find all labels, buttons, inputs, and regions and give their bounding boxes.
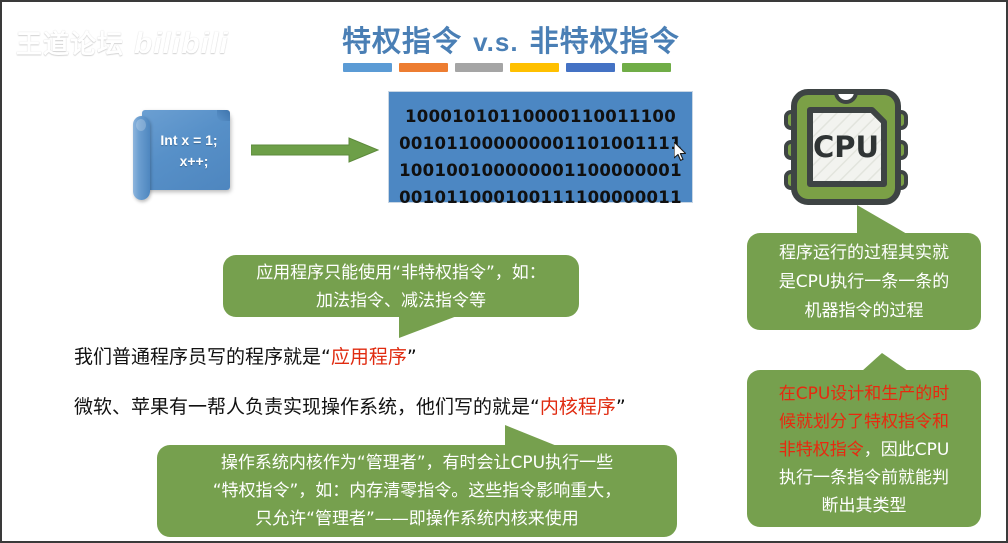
title-left-text: 特权指令 [342,24,462,58]
cpu-label: CPU [813,130,879,164]
callout-cpu-design: 在CPU设计和生产的时 候就划分了特权指令和 非特权指令，因此CPU 执行一条指… [747,370,981,527]
callout-design-line-4: 执行一条指令前就能判 [747,464,981,492]
body-kernel-highlight: 内核程序 [540,396,616,418]
body-text-kernel-program: 微软、苹果有一帮人负责实现操作系统，他们写的就是“内核程序” [74,392,626,419]
callout-design-line-1: 在CPU设计和生产的时 [747,380,981,408]
callout-tail [399,316,457,338]
binary-line-2: 001011000000001101001111 [389,130,692,157]
title-right-text: 非特权指令 [530,24,680,58]
color-bar-2 [399,63,448,72]
callout-app-line-2: 加法指令、减法指令等 [223,287,579,315]
callout-app-instruction: 应用程序只能使用“非特权指令”，如： 加法指令、减法指令等 [223,255,579,317]
watermark: 王道论坛bilibili [16,24,229,61]
callout-app-line-1: 应用程序只能使用“非特权指令”，如： [223,259,579,287]
callout-kernel-instruction: 操作系统内核作为“管理者”，有时会让CPU执行一些 “特权指令”，如：内存清零指… [157,445,677,537]
color-bar-1 [343,63,392,72]
body-kernel-prefix: 微软、苹果有一帮人负责实现操作系统，他们写的就是“ [74,396,540,418]
body-app-prefix: 我们普通程序员写的程序就是“ [74,346,331,368]
callout-kernel-line-1: 操作系统内核作为“管理者”，有时会让CPU执行一些 [157,449,677,477]
callout-run-line-1: 程序运行的过程其实就 [747,239,981,268]
title-vs-text: v.s. [473,27,518,57]
body-kernel-suffix: ” [616,396,626,418]
cpu-chip-icon: CPU [780,84,912,212]
binary-line-4: 001011000100111100000011 [389,184,692,211]
callout-kernel-line-2: “特权指令”，如：内存清零指令。这些指令影响重大， [157,477,677,505]
callout-tail [862,353,908,371]
compile-arrow [251,137,379,163]
callout-run-line-3: 机器指令的过程 [747,297,981,326]
watermark-site-text: 王道论坛 [16,29,124,59]
callout-program-run: 程序运行的过程其实就 是CPU执行一条一条的 机器指令的过程 [747,233,981,330]
callout-design-line-3-red: 非特权指令 [779,440,864,460]
source-code-scroll: Int x = 1; x++; [128,106,238,194]
title-color-bars [343,63,671,72]
color-bar-3 [455,63,504,72]
color-bar-5 [566,63,615,72]
mouse-cursor [674,142,688,162]
body-text-app-program: 我们普通程序员写的程序就是“应用程序” [74,342,417,369]
code-line-2: x++; [148,151,230,172]
binary-line-3: 100100100000001100000001 [389,157,692,184]
callout-design-line-5: 断出其类型 [747,492,981,520]
callout-kernel-line-3: 只允许“管理者”——即操作系统内核来使用 [157,505,677,533]
color-bar-6 [622,63,671,72]
binary-line-1: 10001010110000110011100 [389,103,692,130]
machine-code-block: 10001010110000110011100 0010110000000011… [388,91,693,203]
code-line-1: Int x = 1; [148,130,230,151]
page-title: 特权指令 v.s. 非特权指令 [342,18,672,60]
callout-design-line-3: 非特权指令，因此CPU [747,436,981,464]
callout-design-line-2: 候就划分了特权指令和 [747,408,981,436]
callout-tail [857,205,907,234]
scroll-corner-fold [217,110,230,121]
slide-canvas: 王道论坛bilibili 特权指令 v.s. 非特权指令 Int x = 1; … [0,0,1008,543]
callout-design-line-3-white: ，因此CPU [864,440,950,460]
callout-run-line-2: 是CPU执行一条一条的 [747,268,981,297]
callout-tail [505,425,557,446]
body-app-highlight: 应用程序 [331,346,407,368]
scroll-code-text: Int x = 1; x++; [148,130,230,172]
color-bar-4 [510,63,559,72]
watermark-bilibili-text: bilibili [134,27,229,60]
body-app-suffix: ” [407,346,417,368]
